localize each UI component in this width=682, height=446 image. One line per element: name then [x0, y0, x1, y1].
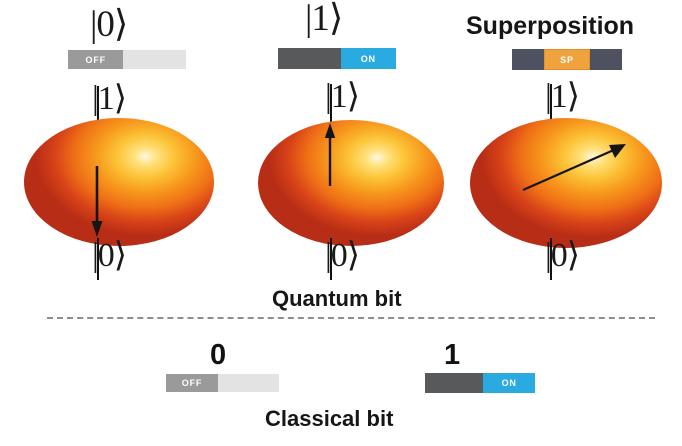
- header-superposition: Superposition: [466, 14, 634, 39]
- bloch-sphere-state-one: [258, 120, 444, 246]
- toggle-label-off: OFF: [68, 50, 123, 69]
- toggle-switch-off-classical[interactable]: OFF: [166, 374, 279, 392]
- classical-digit-one: 1: [444, 341, 460, 370]
- toggle-label-sp: SP: [544, 49, 590, 70]
- classical-digit-zero: 0: [210, 341, 226, 370]
- toggle-track: [278, 48, 341, 69]
- toggle-switch-superposition[interactable]: SP: [512, 49, 622, 70]
- header-ket-zero: |0⟩: [90, 6, 127, 43]
- header-ket-one: |1⟩: [305, 0, 342, 37]
- sphere2-bottom-label: |0⟩: [545, 239, 579, 273]
- section-divider: [47, 317, 655, 319]
- toggle-label-on: ON: [341, 48, 396, 69]
- toggle-track: [425, 373, 483, 393]
- toggle-switch-off-qubit0[interactable]: OFF: [68, 50, 186, 69]
- toggle-switch-on-qubit1[interactable]: ON: [278, 48, 396, 69]
- toggle-track-right: [590, 49, 622, 70]
- bloch-sphere-state-zero: [24, 118, 214, 246]
- label-quantum-bit: Quantum bit: [272, 288, 402, 310]
- label-classical-bit: Classical bit: [265, 408, 393, 430]
- toggle-track-left: [512, 49, 544, 70]
- toggle-switch-on-classical[interactable]: ON: [425, 373, 535, 393]
- toggle-track: [218, 374, 279, 392]
- sphere1-bottom-label: |0⟩: [325, 239, 359, 273]
- toggle-label-on: ON: [483, 373, 535, 393]
- state-vector-arrow-down: [24, 118, 214, 246]
- state-vector-arrow-diagonal: [470, 118, 662, 248]
- toggle-label-off: OFF: [166, 374, 218, 392]
- toggle-track: [123, 50, 186, 69]
- quantum-vs-classical-bit-figure: |0⟩ OFF |1⟩ |0⟩ |1⟩ ON |1⟩ |0⟩ Superposi…: [0, 0, 682, 446]
- state-vector-arrow-up: [258, 120, 444, 246]
- sphere0-bottom-label: |0⟩: [92, 239, 126, 273]
- bloch-sphere-state-superposition: [470, 118, 662, 248]
